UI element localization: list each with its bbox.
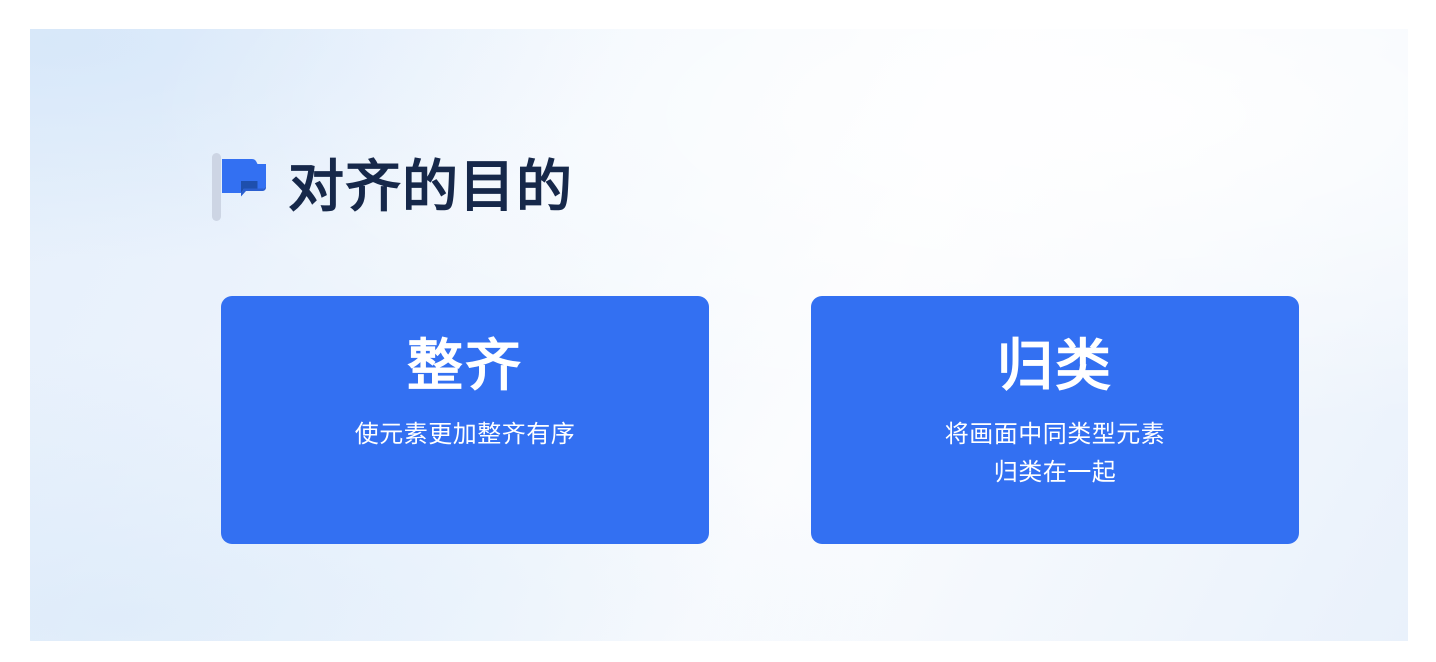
- slide-heading: 对齐的目的: [208, 151, 573, 223]
- card-grouping-description-line-1: 将画面中同类型元素: [945, 416, 1166, 454]
- card-grouping[interactable]: 归类 将画面中同类型元素 归类在一起: [811, 296, 1299, 544]
- card-grouping-description-line-2: 归类在一起: [945, 454, 1166, 492]
- slide-panel: 对齐的目的 整齐 使元素更加整齐有序 归类 将画面中同类型元素 归类在一起: [30, 29, 1408, 641]
- card-row: 整齐 使元素更加整齐有序 归类 将画面中同类型元素 归类在一起: [221, 296, 1299, 544]
- card-grouping-title: 归类: [997, 332, 1113, 400]
- card-neatness[interactable]: 整齐 使元素更加整齐有序: [221, 296, 709, 544]
- page-title: 对齐的目的: [288, 156, 573, 218]
- card-neatness-title: 整齐: [407, 332, 523, 400]
- waving-flag-icon: [208, 151, 270, 223]
- slide-frame: 对齐的目的 整齐 使元素更加整齐有序 归类 将画面中同类型元素 归类在一起: [0, 0, 1436, 662]
- card-grouping-description: 将画面中同类型元素 归类在一起: [945, 416, 1166, 492]
- card-neatness-description: 使元素更加整齐有序: [355, 416, 576, 454]
- card-neatness-description-line-1: 使元素更加整齐有序: [355, 416, 576, 454]
